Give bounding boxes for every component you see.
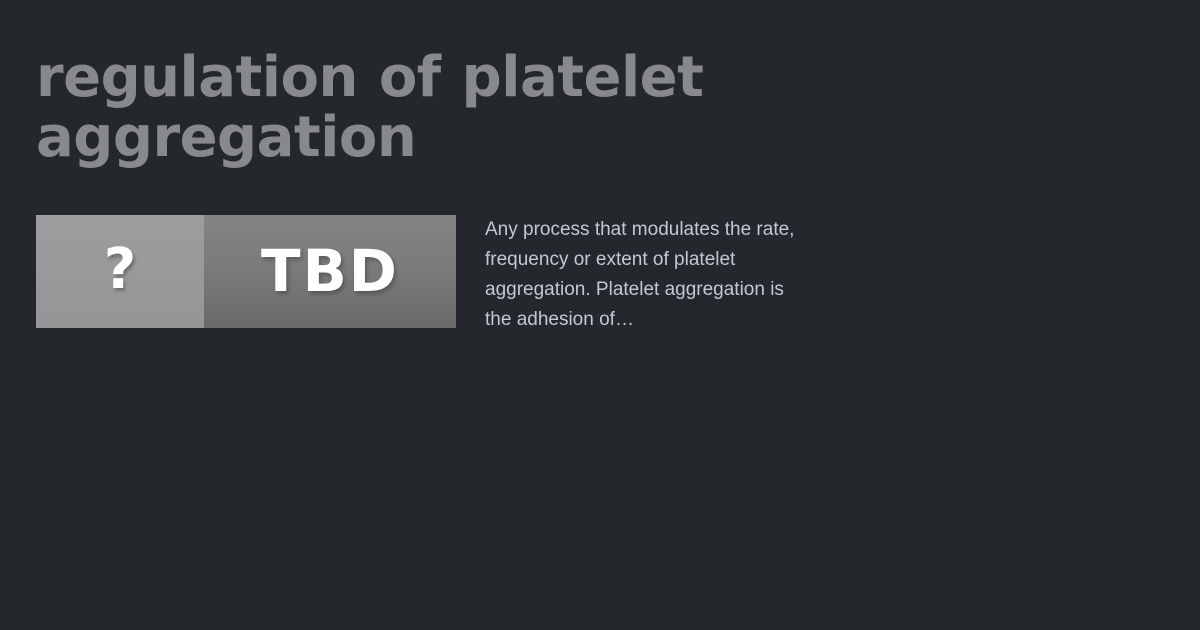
card-body: ? TBD Any process that modulates the rat… (36, 215, 1166, 335)
preview-card: regulation of platelet aggregation ? TBD… (0, 0, 1200, 630)
description-text: Any process that modulates the rate, fre… (485, 215, 805, 335)
page-title: regulation of platelet aggregation (36, 48, 816, 168)
thumbnail-question-panel: ? (36, 215, 204, 328)
tbd-label: TBD (261, 242, 399, 300)
thumbnail-placeholder[interactable]: ? TBD (36, 215, 456, 328)
question-mark-icon: ? (104, 242, 136, 298)
thumbnail-tbd-panel: TBD (204, 215, 456, 328)
